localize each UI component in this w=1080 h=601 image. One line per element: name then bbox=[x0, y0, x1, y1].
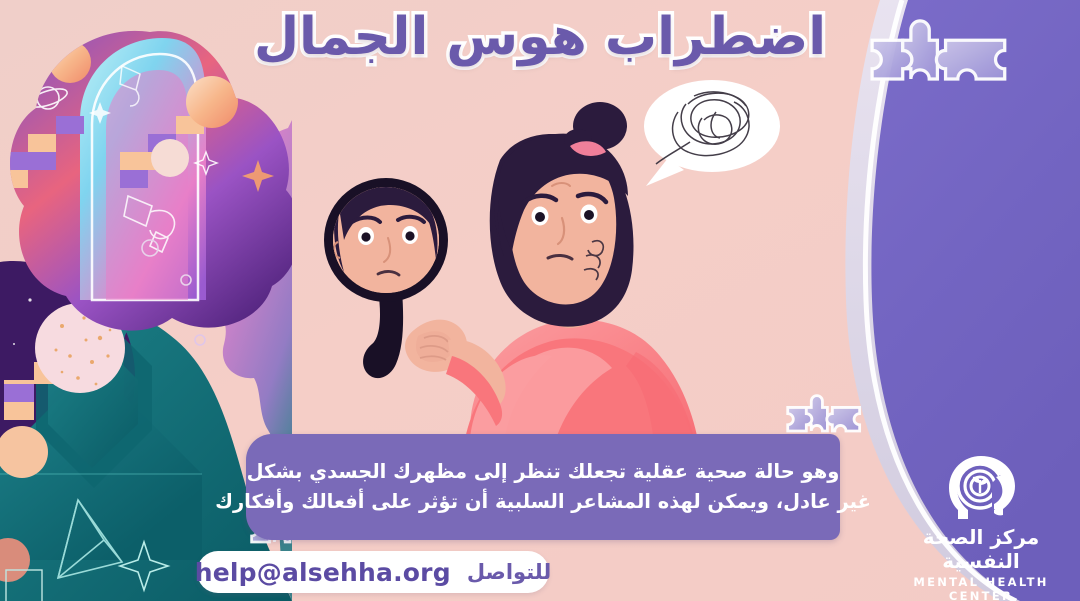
head-profile-icon bbox=[944, 453, 1018, 523]
contact-pill[interactable]: للتواصل help@alsehha.org bbox=[197, 551, 549, 593]
organization-logo[interactable]: مركز الصحة النفسية MENTAL HEALTH CENTER bbox=[893, 452, 1069, 576]
description-banner: وهو حالة صحية عقلية تجعلك تنظر إلى مظهرك… bbox=[246, 434, 840, 540]
description-line-1: وهو حالة صحية عقلية تجعلك تنظر إلى مظهرك… bbox=[247, 457, 840, 487]
description-text: وهو حالة صحية عقلية تجعلك تنظر إلى مظهرك… bbox=[246, 434, 840, 540]
contact-email[interactable]: help@alsehha.org bbox=[195, 558, 451, 587]
plant-sprout-icon bbox=[973, 477, 988, 493]
puzzle-piece-icon bbox=[827, 407, 860, 431]
poster-canvas: اضطراب هوس الجمال وهو حالة صحية عقلية تج… bbox=[0, 0, 1080, 601]
logo-mark bbox=[893, 452, 1069, 524]
logo-name-english: MENTAL HEALTH CENTER bbox=[893, 575, 1069, 601]
logo-name-arabic: مركز الصحة النفسية bbox=[893, 525, 1069, 573]
contact-label: للتواصل bbox=[467, 560, 551, 584]
description-line-2: غير عادل، ويمكن لهذه المشاعر السلبية أن … bbox=[215, 487, 871, 517]
